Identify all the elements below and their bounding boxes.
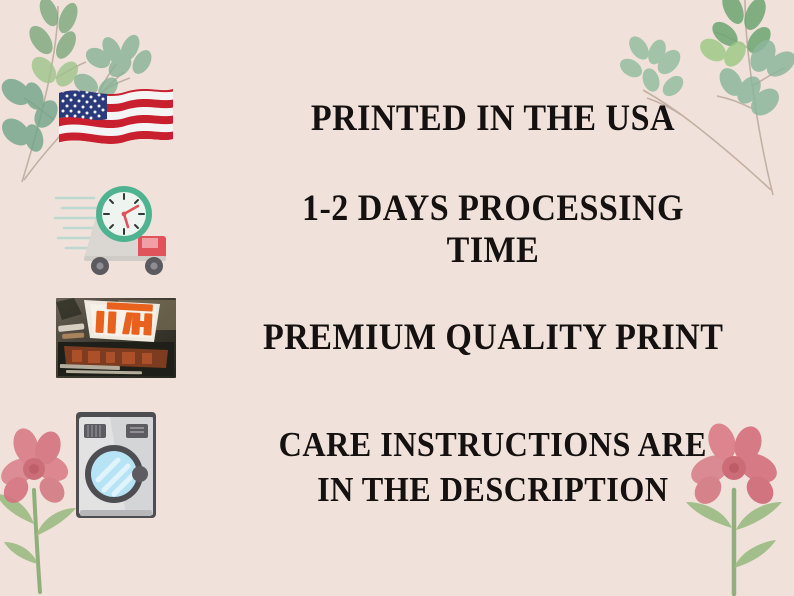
feature-icon-cell-processing	[0, 180, 232, 280]
feature-row-usa: PRINTED IN THE USA	[0, 78, 794, 160]
usa-flag-icon	[57, 83, 175, 155]
feature-icon-cell-quality	[0, 298, 232, 378]
screen-printing-photo	[56, 298, 176, 378]
feature-row-care: CARE INSTRUCTIONS ARE IN THE DESCRIPTION	[0, 398, 794, 538]
feature-icon-cell-care	[0, 406, 232, 530]
feature-text-cell-processing: 1-2 DAYS PROCESSING TIME	[232, 188, 794, 272]
feature-icon-cell-usa	[0, 83, 232, 155]
feature-headline-quality: PREMIUM QUALITY PRINT	[263, 317, 723, 359]
info-graphic-canvas: PRINTED IN THE USA	[0, 0, 794, 596]
fast-delivery-truck-clock-icon	[54, 180, 178, 280]
feature-text-cell-usa: PRINTED IN THE USA	[232, 98, 794, 140]
feature-headline-usa: PRINTED IN THE USA	[311, 98, 675, 140]
feature-row-quality: PREMIUM QUALITY PRINT	[0, 292, 794, 384]
washing-machine-icon	[68, 406, 164, 530]
feature-row-processing: 1-2 DAYS PROCESSING TIME	[0, 178, 794, 282]
feature-text-cell-quality: PREMIUM QUALITY PRINT	[232, 317, 794, 359]
feature-text-cell-care: CARE INSTRUCTIONS ARE IN THE DESCRIPTION	[232, 423, 794, 513]
feature-headline-processing: 1-2 DAYS PROCESSING TIME	[253, 188, 733, 272]
feature-headline-care: CARE INSTRUCTIONS ARE IN THE DESCRIPTION	[279, 423, 707, 513]
